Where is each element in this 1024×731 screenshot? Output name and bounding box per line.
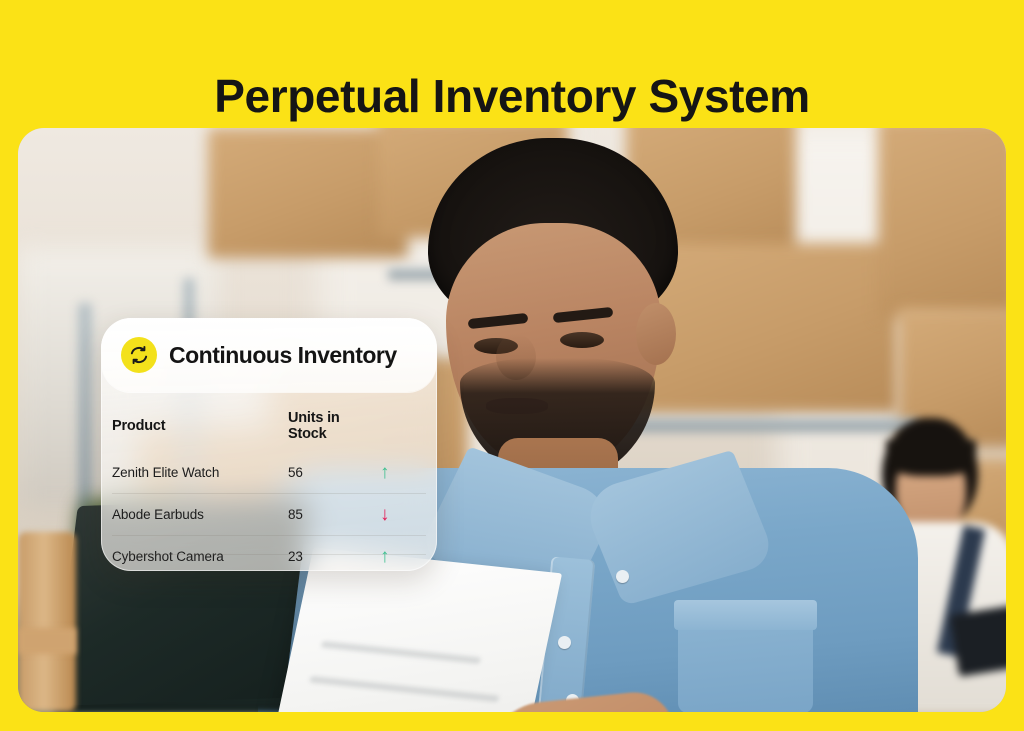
worker-ear xyxy=(636,303,676,365)
trend-up-icon: ↑ xyxy=(380,463,389,482)
table-header-row: Product Units in Stock xyxy=(112,392,426,452)
shirt-button xyxy=(558,636,571,649)
sync-refresh-icon xyxy=(121,337,157,373)
page-title: Perpetual Inventory System xyxy=(0,67,1024,125)
card-body: Product Units in Stock Zenith Elite Watc… xyxy=(101,392,437,571)
cell-product: Zenith Elite Watch xyxy=(112,452,280,494)
hero-photo: Continuous Inventory Product Units in St… xyxy=(18,128,1006,712)
cell-trend: ↑ xyxy=(380,452,426,494)
shirt-button xyxy=(616,570,629,583)
cell-product: Abode Earbuds xyxy=(112,494,280,536)
cardboard-tube xyxy=(18,532,76,712)
paper-text-line xyxy=(309,676,499,703)
shirt-pocket-flap xyxy=(674,600,817,630)
page-root: Perpetual Inventory System xyxy=(0,0,1024,731)
cell-units: 56 xyxy=(280,452,380,494)
trend-up-icon: ↑ xyxy=(380,547,389,566)
card-bottom-divider xyxy=(112,554,426,555)
paper-text-line xyxy=(321,641,482,665)
inventory-table: Product Units in Stock Zenith Elite Watc… xyxy=(112,392,426,571)
table-row[interactable]: Zenith Elite Watch 56 ↑ xyxy=(112,452,426,494)
column-header-product: Product xyxy=(112,392,280,452)
cell-trend: ↓ xyxy=(380,494,426,536)
inventory-table-head: Product Units in Stock xyxy=(112,392,426,452)
cardboard-tube-tape xyxy=(18,628,76,654)
continuous-inventory-card: Continuous Inventory Product Units in St… xyxy=(101,318,437,571)
column-header-units: Units in Stock xyxy=(280,392,380,452)
worker-eye xyxy=(560,332,604,348)
table-row[interactable]: Abode Earbuds 85 ↓ xyxy=(112,494,426,536)
trend-down-icon: ↓ xyxy=(380,505,389,524)
column-header-trend xyxy=(380,392,426,452)
card-header: Continuous Inventory xyxy=(101,318,437,392)
card-title: Continuous Inventory xyxy=(169,342,397,369)
cell-units: 85 xyxy=(280,494,380,536)
